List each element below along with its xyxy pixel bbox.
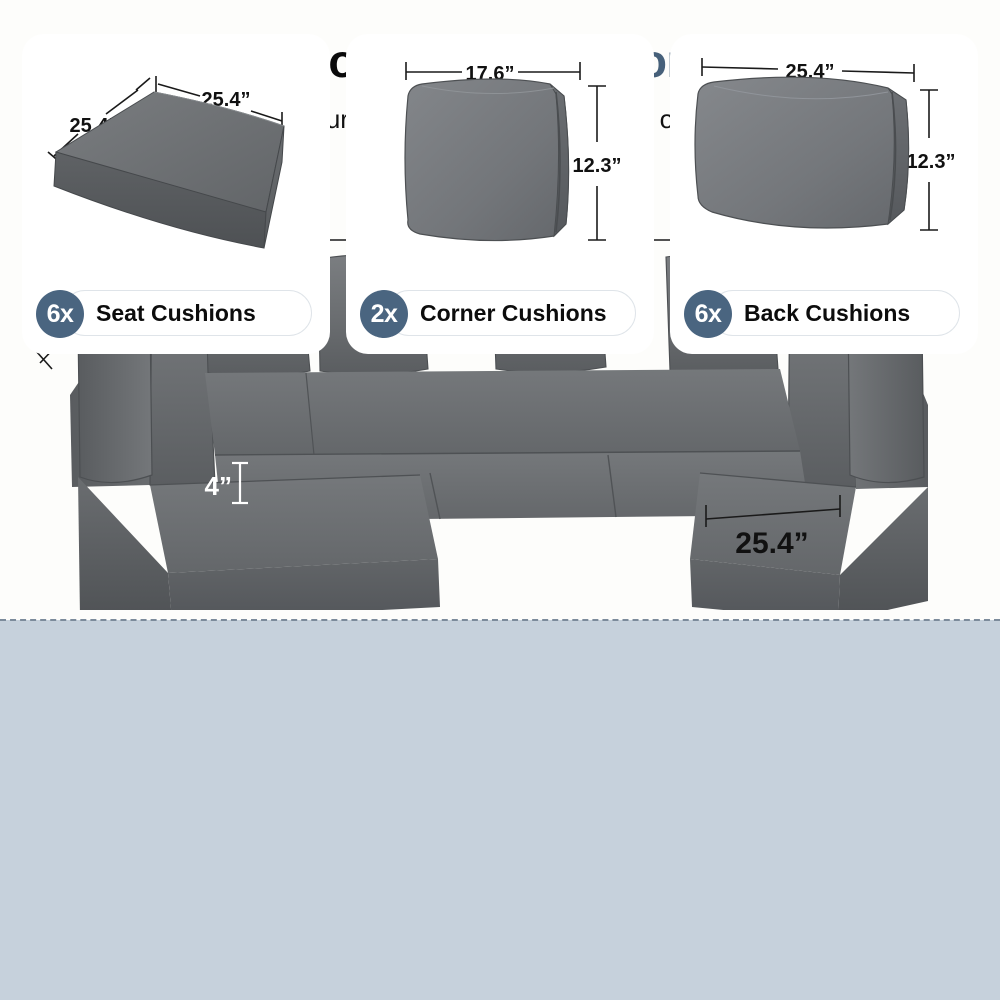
- seat-cushions-footer: 6x Seat Cushions: [36, 290, 316, 336]
- back-cushions-footer: 6x Back Cushions: [684, 290, 964, 336]
- cushion-cards-row: 25.4” 25.4”: [0, 0, 1000, 380]
- dimension-corner-height: 12.3”: [573, 86, 622, 240]
- card-back-cushions[interactable]: 25.4” 12.3”: [670, 34, 978, 354]
- dimension-label-back-height: 12.3”: [907, 151, 956, 173]
- card-corner-cushions[interactable]: 17.6” 12.3”: [346, 34, 654, 354]
- seat-cushion-figure: 25.4” 25.4”: [22, 34, 330, 272]
- seat-cushions-label: Seat Cushions: [96, 290, 256, 336]
- dimension-label-corner-height: 12.3”: [573, 155, 622, 177]
- panel-dashed-divider: [0, 619, 1000, 621]
- corner-cushions-footer: 2x Corner Cushions: [360, 290, 640, 336]
- cushion-breakdown-panel: [0, 620, 1000, 1000]
- dimension-back-height: 12.3”: [907, 90, 956, 230]
- product-dimensions-infographic: Product Dimensions Manual measurements m…: [0, 0, 1000, 1000]
- card-seat-cushions[interactable]: 25.4” 25.4”: [22, 34, 330, 354]
- dimension-label-seat-thickness: 4”: [205, 471, 232, 501]
- corner-cushion-figure: 17.6” 12.3”: [346, 34, 654, 272]
- back-cushions-count-badge: 6x: [684, 290, 732, 338]
- seat-cushions-count-badge: 6x: [36, 290, 84, 338]
- back-cushions-label: Back Cushions: [744, 290, 910, 336]
- corner-cushions-label: Corner Cushions: [420, 290, 607, 336]
- dimension-label-module-width: 25.4”: [735, 527, 808, 560]
- back-cushion-figure: 25.4” 12.3”: [670, 34, 978, 272]
- corner-cushions-count-badge: 2x: [360, 290, 408, 338]
